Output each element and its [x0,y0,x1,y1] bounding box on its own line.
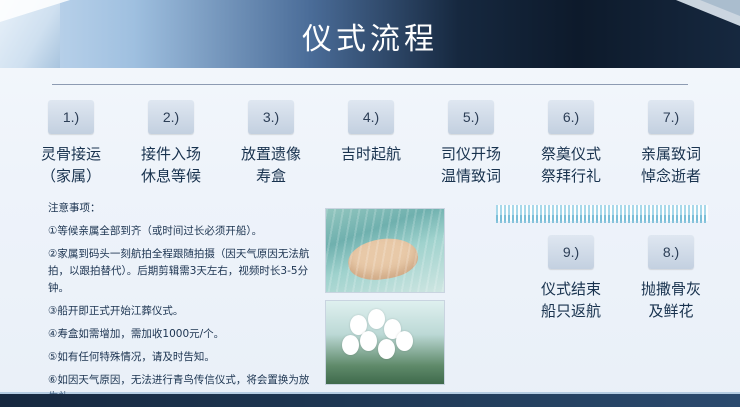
photo-white-balloons [325,300,445,385]
step-2-label: 接件入场 休息等候 [128,143,214,187]
page-title: 仪式流程 [0,14,740,58]
step-1-label: 灵骨接运 （家属） [28,143,114,187]
step-8: 8.) 抛撒骨灰 及鲜花 [628,235,714,322]
note-line-3: ③船开即正式开始江葬仪式。 [48,303,313,320]
title-divider [52,84,688,85]
note-line-5: ⑤如有任何特殊情况，请及时告知。 [48,349,313,366]
wave-divider-secondary [496,215,708,223]
title-banner: 仪式流程 [0,0,740,68]
step-2: 2.) 接件入场 休息等候 [128,100,214,187]
notes-title: 注意事项： [48,200,313,217]
photo-hands-releasing [325,208,445,293]
balloon-shape [378,339,395,359]
step-1: 1.) 灵骨接运 （家属） [28,100,114,187]
notes-block: 注意事项： ①等候亲属全部到齐（或时间过长必须开船）。 ②家属到码头一刻航拍全程… [48,200,313,407]
step-6-badge: 6.) [548,100,594,134]
note-line-4: ④寿盒如需增加，需加收1000元/个。 [48,326,313,343]
step-2-badge: 2.) [148,100,194,134]
bottom-bar [0,394,740,407]
step-8-label: 抛撒骨灰 及鲜花 [628,278,714,322]
water-streaks [326,209,444,292]
note-line-1: ①等候亲属全部到齐（或时间过长必须开船）。 [48,223,313,240]
step-9: 9.) 仪式结束 船只返航 [528,235,614,322]
slide-canvas: 仪式流程 1.) 灵骨接运 （家属） 2.) 接件入场 休息等候 3.) 放置遗… [0,0,740,407]
step-8-badge: 8.) [648,235,694,269]
step-6: 6.) 祭奠仪式 祭拜行礼 [528,100,614,187]
step-4-badge: 4.) [348,100,394,134]
step-3-label: 放置遗像 寿盒 [228,143,314,187]
step-3-badge: 3.) [248,100,294,134]
balloon-shape [360,331,377,351]
step-5-label: 司仪开场 温情致词 [428,143,514,187]
step-4-label: 吉时起航 [328,143,414,165]
step-9-label: 仪式结束 船只返航 [528,278,614,322]
step-5: 5.) 司仪开场 温情致词 [428,100,514,187]
step-7-badge: 7.) [648,100,694,134]
step-7-label: 亲属致词 悼念逝者 [628,143,714,187]
balloon-shape [342,335,359,355]
step-6-label: 祭奠仪式 祭拜行礼 [528,143,614,187]
step-1-badge: 1.) [48,100,94,134]
note-line-2: ②家属到码头一刻航拍全程跟随拍摄（因天气原因无法航拍，以跟拍替代）。后期剪辑需3… [48,246,313,297]
step-4: 4.) 吉时起航 [328,100,414,165]
step-9-badge: 9.) [548,235,594,269]
step-5-badge: 5.) [448,100,494,134]
step-3: 3.) 放置遗像 寿盒 [228,100,314,187]
balloon-shape [368,309,385,329]
step-7: 7.) 亲属致词 悼念逝者 [628,100,714,187]
balloon-shape [396,331,413,351]
